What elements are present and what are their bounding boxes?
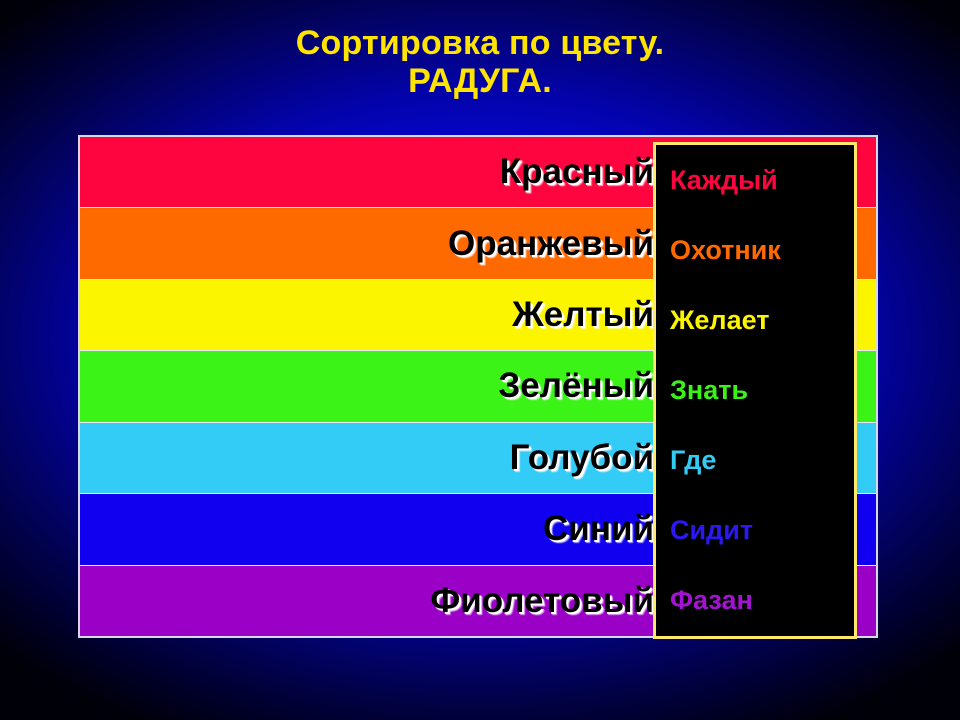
title-line-1: Сортировка по цвету.	[0, 24, 960, 62]
mnemonic-word: Где	[656, 426, 854, 496]
slide-title: Сортировка по цвету. РАДУГА.	[0, 24, 960, 100]
mnemonic-word: Охотник	[656, 215, 854, 285]
title-line-2: РАДУГА.	[0, 62, 960, 100]
mnemonic-word: Знать	[656, 355, 854, 425]
mnemonic-word: Желает	[656, 285, 854, 355]
mnemonic-word: Сидит	[656, 496, 854, 566]
mnemonic-panel: Каждый Охотник Желает Знать Где Сидит Фа…	[653, 142, 857, 639]
mnemonic-word: Фазан	[656, 566, 854, 636]
mnemonic-word: Каждый	[656, 145, 854, 215]
rainbow-table: Красный Оранжевый Желтый Зелёный Голубой…	[78, 135, 878, 638]
